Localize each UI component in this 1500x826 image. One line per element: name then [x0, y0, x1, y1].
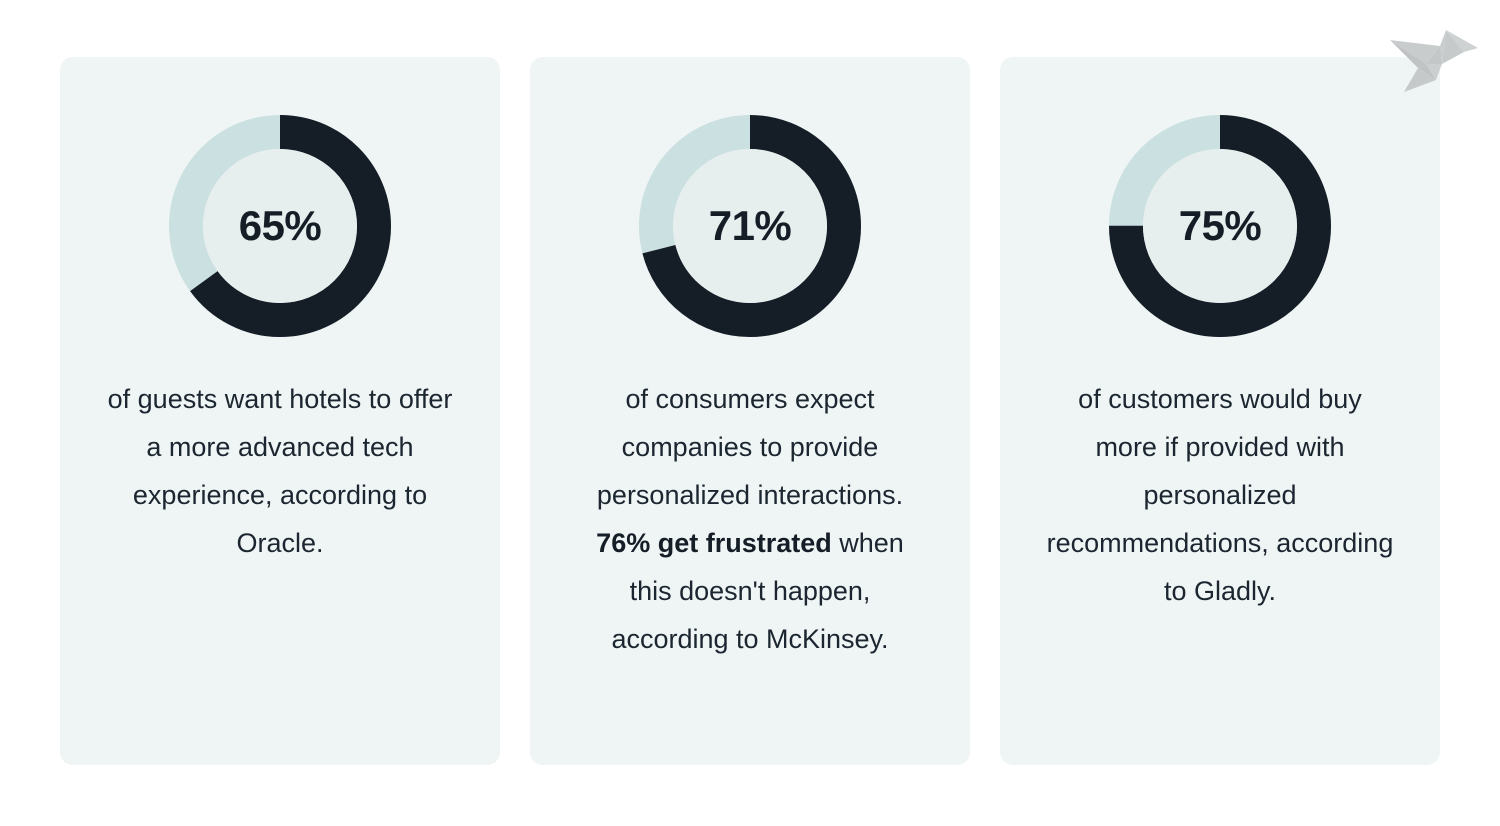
infographic-stage: 65% of guests want hotels to offer a mor…	[0, 0, 1500, 826]
stat-card-caption-2: of consumers expect companies to provide…	[574, 375, 926, 663]
stat-card-2: 71% of consumers expect companies to pro…	[530, 57, 970, 765]
donut-chart-1: 65%	[169, 115, 391, 337]
stat-card-1: 65% of guests want hotels to offer a mor…	[60, 57, 500, 765]
stat-card-caption-1: of guests want hotels to offer a more ad…	[104, 375, 456, 567]
stat-card-row: 65% of guests want hotels to offer a mor…	[60, 57, 1440, 765]
stat-card-3: 75% of customers would buy more if provi…	[1000, 57, 1440, 765]
donut-percent-label-3: 75%	[1109, 115, 1331, 337]
donut-chart-3: 75%	[1109, 115, 1331, 337]
donut-percent-label-1: 65%	[169, 115, 391, 337]
donut-chart-2: 71%	[639, 115, 861, 337]
donut-percent-label-2: 71%	[639, 115, 861, 337]
origami-bird-shape	[1390, 30, 1478, 92]
origami-bird-logo	[1388, 18, 1480, 94]
stat-card-caption-3: of customers would buy more if provided …	[1044, 375, 1396, 615]
